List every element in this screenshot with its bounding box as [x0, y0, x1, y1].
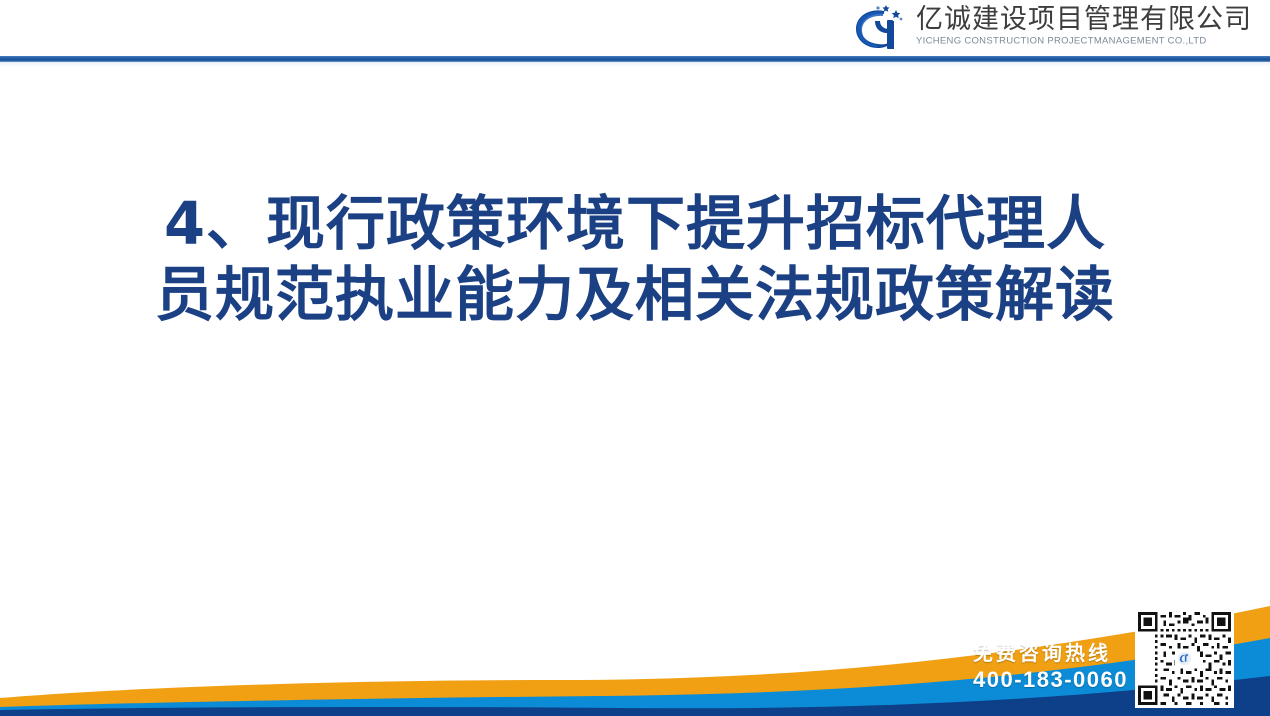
hotline-number: 400-183-0060: [973, 666, 1128, 694]
hotline-label: 免费咨询热线: [973, 640, 1128, 666]
slide-title-line-1: 4、现行政策环境下提升招标代理人: [0, 188, 1270, 259]
qr-center-logo-icon: [1175, 649, 1194, 668]
company-name-cn: 亿诚建设项目管理有限公司: [916, 5, 1252, 34]
yicheng-swoosh-logo-icon: [854, 2, 912, 52]
slide-title-line-2: 员规范执业能力及相关法规政策解读: [0, 259, 1270, 330]
presentation-slide: 亿诚建设项目管理有限公司 YICHENG CONSTRUCTION PROJEC…: [0, 0, 1270, 716]
company-name-en: YICHENG CONSTRUCTION PROJECTMANAGEMENT C…: [916, 35, 1252, 47]
slide-header: 亿诚建设项目管理有限公司 YICHENG CONSTRUCTION PROJEC…: [0, 0, 1270, 58]
header-divider-shadow: [0, 62, 1270, 67]
slide-title: 4、现行政策环境下提升招标代理人 员规范执业能力及相关法规政策解读: [0, 188, 1270, 330]
contact-info: 免费咨询热线 400-183-0060: [973, 640, 1128, 694]
qr-code-icon[interactable]: [1135, 609, 1234, 708]
company-logo: 亿诚建设项目管理有限公司 YICHENG CONSTRUCTION PROJEC…: [854, 2, 1252, 52]
company-name-block: 亿诚建设项目管理有限公司 YICHENG CONSTRUCTION PROJEC…: [916, 2, 1252, 48]
